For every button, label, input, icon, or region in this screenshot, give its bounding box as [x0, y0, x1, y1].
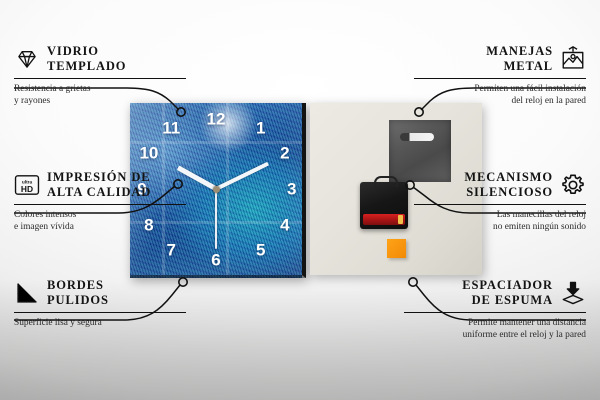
callout-desc-line1: Permite mantener una distancia — [404, 317, 586, 330]
callout-title-line2: METAL — [486, 59, 553, 74]
callout-desc-line2: no emiten ningún sonido — [414, 221, 586, 234]
callout-rule — [404, 312, 586, 313]
diamond-icon — [14, 46, 40, 72]
leader-endpoint-mecanismo — [406, 181, 414, 189]
callout-rule — [14, 312, 186, 313]
callout-title-line2: DE ESPUMA — [462, 293, 553, 308]
gear-icon — [560, 172, 586, 198]
callout-desc-line2: del reloj en la pared — [414, 95, 586, 108]
callout-title-line2: PULIDOS — [47, 293, 109, 308]
polished-edge-icon — [14, 280, 40, 306]
callout-desc-line2: e imagen vívida — [14, 221, 186, 234]
callout-desc-line1: Permiten una fácil instalación — [414, 83, 586, 96]
callout-title-line2: SILENCIOSO — [464, 185, 553, 200]
callout-desc-line1: Colores intensos — [14, 209, 186, 222]
callout-title-line1: MANEJAS — [486, 44, 553, 59]
callout-desc-line2: y rayones — [14, 95, 186, 108]
svg-text:HD: HD — [21, 184, 33, 194]
callout-title-line2: ALTA CALIDAD — [47, 185, 151, 200]
callout-espaciador-de-espuma: ESPACIADOR DE ESPUMA Permite mantener un… — [404, 278, 586, 342]
callout-rule — [14, 204, 186, 205]
callout-manejas-metal: MANEJAS METAL Permiten una fácil instala… — [414, 44, 586, 108]
callout-title-line1: MECANISMO — [464, 170, 553, 185]
callout-mecanismo-silencioso: MECANISMO SILENCIOSO Las manecillas del … — [414, 170, 586, 234]
callout-desc-line1: Resistencia a grietas — [14, 83, 186, 96]
leader-endpoint-vidrio-templado — [177, 108, 185, 116]
callout-title-line1: ESPACIADOR — [462, 278, 553, 293]
callout-title-line1: VIDRIO — [47, 44, 126, 59]
callout-title-line1: BORDES — [47, 278, 109, 293]
callout-vidrio-templado: VIDRIO TEMPLADO Resistencia a grietas y … — [14, 44, 186, 108]
callout-desc-line2: uniforme entre el reloj y la pared — [404, 329, 586, 342]
callout-impresion-alta-calidad: ultra HD IMPRESIÓN DE ALTA CALIDAD Color… — [14, 170, 186, 234]
callout-rule — [414, 204, 586, 205]
callout-title-line2: TEMPLADO — [47, 59, 126, 74]
callout-title-line1: IMPRESIÓN DE — [47, 170, 151, 185]
callout-desc-line1: Superficie lisa y segura — [14, 317, 186, 330]
arrow-down-stack-icon — [560, 280, 586, 306]
infographic-canvas: 12 1 2 3 4 5 6 7 8 9 10 11 — [0, 0, 600, 400]
callout-bordes-pulidos: BORDES PULIDOS Superficie lisa y segura — [14, 278, 186, 329]
leader-endpoint-manejas — [415, 108, 423, 116]
callout-rule — [414, 78, 586, 79]
callout-desc-line1: Las manecillas del reloj — [414, 209, 586, 222]
callout-rule — [14, 78, 186, 79]
ultra-hd-icon: ultra HD — [14, 172, 40, 198]
picture-frame-hook-icon — [560, 46, 586, 72]
